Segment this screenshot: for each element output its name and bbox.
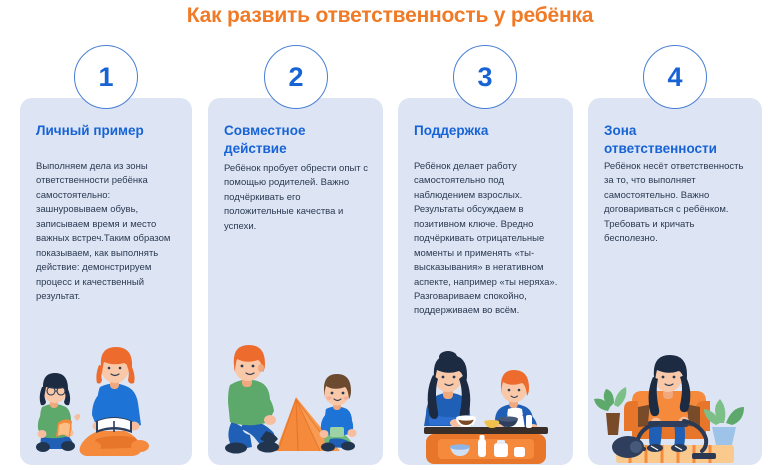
step-body-2: Ребёнок пробует обрести опыт с помощью р…	[224, 162, 369, 234]
step-number-4: 4	[643, 45, 707, 109]
step-heading-2: Совместное действие	[224, 122, 369, 158]
step-heading-1: Личный пример	[36, 122, 178, 140]
page-title: Как развить ответственность у ребёнка	[0, 4, 780, 28]
step-card-1: Личный пример Выполняем дела из зоны отв…	[20, 98, 192, 465]
illustration-girl-vacuuming-living-room	[588, 335, 762, 465]
step-card-3: Поддержка Ребёнок делает работу самостоя…	[398, 98, 573, 465]
step-number-1: 1	[74, 45, 138, 109]
step-card-2: Совместное действие Ребёнок пробует обре…	[208, 98, 383, 465]
step-body-4: Ребёнок несёт ответственность за то, что…	[604, 160, 748, 247]
illustration-father-and-son-building-tent	[208, 335, 383, 465]
infographic-root: Как развить ответственность у ребёнка Ли…	[0, 0, 780, 470]
step-heading-3: Поддержка	[414, 122, 559, 140]
step-body-3: Ребёнок делает работу самостоятельно под…	[414, 160, 559, 319]
step-heading-4: Зона ответственности	[604, 122, 748, 158]
step-number-2: 2	[264, 45, 328, 109]
illustration-mother-and-child-reading-books	[20, 335, 192, 465]
step-body-1: Выполняем дела из зоны ответственности р…	[36, 160, 178, 304]
step-card-4: Зона ответственности Ребёнок несёт ответ…	[588, 98, 762, 465]
illustration-mother-watching-child-cooking	[398, 335, 573, 465]
step-number-3: 3	[453, 45, 517, 109]
